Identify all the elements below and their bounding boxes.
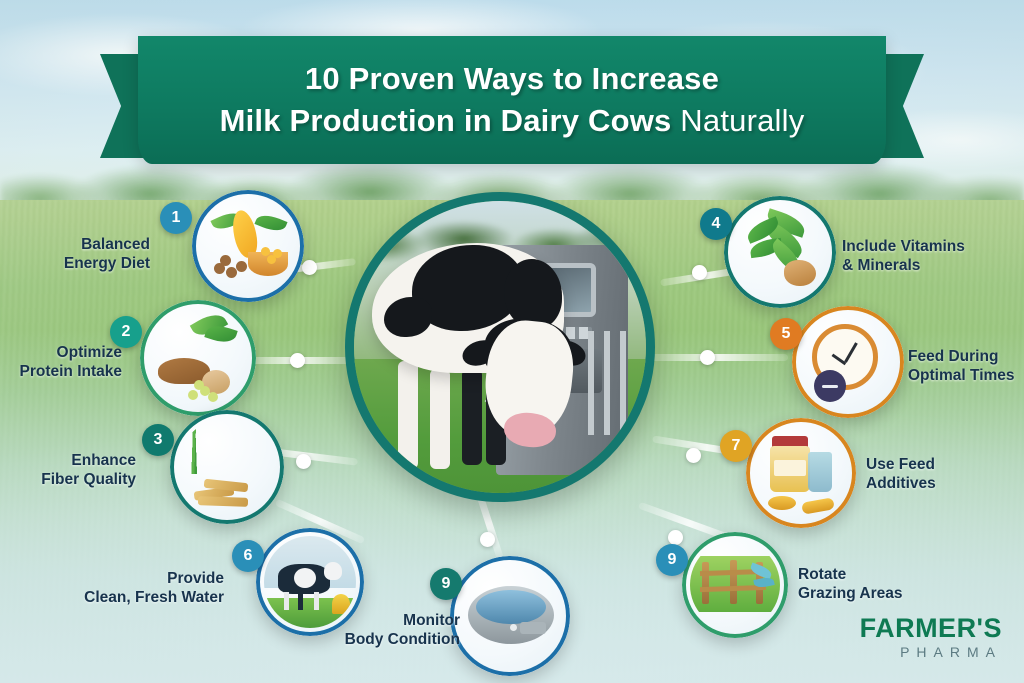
title-ribbon: 10 Proven Ways to Increase Milk Producti… [100, 36, 924, 176]
grass-hay-fiber-icon [178, 418, 276, 516]
protein-feed-icon [148, 308, 248, 408]
item-9c-label: Monitor Body Condition [300, 612, 460, 650]
connector-dot-5 [700, 350, 715, 365]
corn-grain-bowl-icon [200, 198, 296, 294]
supplement-jar-icon [754, 426, 848, 520]
item-4-label: Include Vitamins & Minerals [842, 238, 1012, 276]
connector-dot-9c [480, 532, 495, 547]
item-1-label: Balanced Energy Diet [18, 236, 150, 274]
cow-leg [430, 369, 450, 469]
fenced-paddock-icon [690, 540, 780, 630]
hero-image-cow-milking-machine [345, 192, 655, 502]
connector-dot-1 [302, 260, 317, 275]
item-9c-badge: 9 [430, 568, 462, 600]
item-5-bubble[interactable] [792, 306, 904, 418]
item-7-bubble[interactable] [746, 418, 856, 528]
logo-pharma: PHARMA [860, 642, 1002, 663]
water-trough-icon [458, 564, 562, 668]
herbs-minerals-icon [732, 204, 828, 300]
item-3-badge: 3 [142, 424, 174, 456]
connector-dot-7 [686, 448, 701, 463]
item-6-badge: 6 [232, 540, 264, 572]
item-3-label: Enhance Fiber Quality [10, 452, 136, 490]
item-4-badge: 4 [700, 208, 732, 240]
item-2-label: Optimize Protein Intake [0, 344, 122, 382]
item-1-badge: 1 [160, 202, 192, 234]
title-line-1: 10 Proven Ways to Increase [305, 61, 719, 97]
item-9r-label: Rotate Grazing Areas [798, 566, 948, 604]
connector-dot-2 [290, 353, 305, 368]
item-7-badge: 7 [720, 430, 752, 462]
item-2-bubble[interactable] [140, 300, 256, 416]
item-7-label: Use Feed Additives [866, 456, 996, 494]
item-2-badge: 2 [110, 316, 142, 348]
item-4-bubble[interactable] [724, 196, 836, 308]
item-1-bubble[interactable] [192, 190, 304, 302]
item-9r-bubble[interactable] [682, 532, 788, 638]
brand-logo[interactable]: FARMER'S PHARMA [860, 615, 1002, 663]
item-9r-badge: 9 [656, 544, 688, 576]
item-9c-bubble[interactable] [450, 556, 570, 676]
robot-rails [588, 331, 632, 435]
item-6-label: Provide Clean, Fresh Water [54, 570, 224, 608]
item-3-bubble[interactable] [170, 410, 284, 524]
title-line-2-light: Naturally [680, 103, 804, 138]
infographic-canvas: 10 Proven Ways to Increase Milk Producti… [0, 0, 1024, 683]
cow-leg [462, 369, 482, 465]
cow-leg [398, 361, 418, 469]
connector-dot-4 [692, 265, 707, 280]
logo-farmers: FARMER'S [860, 615, 1002, 642]
connector-dot-3 [296, 454, 311, 469]
title-line-2: Milk Production in Dairy Cows Naturally [220, 103, 805, 139]
item-5-badge: 5 [770, 318, 802, 350]
connector-line-5 [648, 354, 788, 361]
connector-dot-9r [668, 530, 683, 545]
title-line-2-bold: Milk Production in Dairy Cows [220, 103, 681, 138]
item-5-label: Feed During Optimal Times [908, 348, 1024, 386]
alarm-clock-icon [800, 314, 896, 410]
